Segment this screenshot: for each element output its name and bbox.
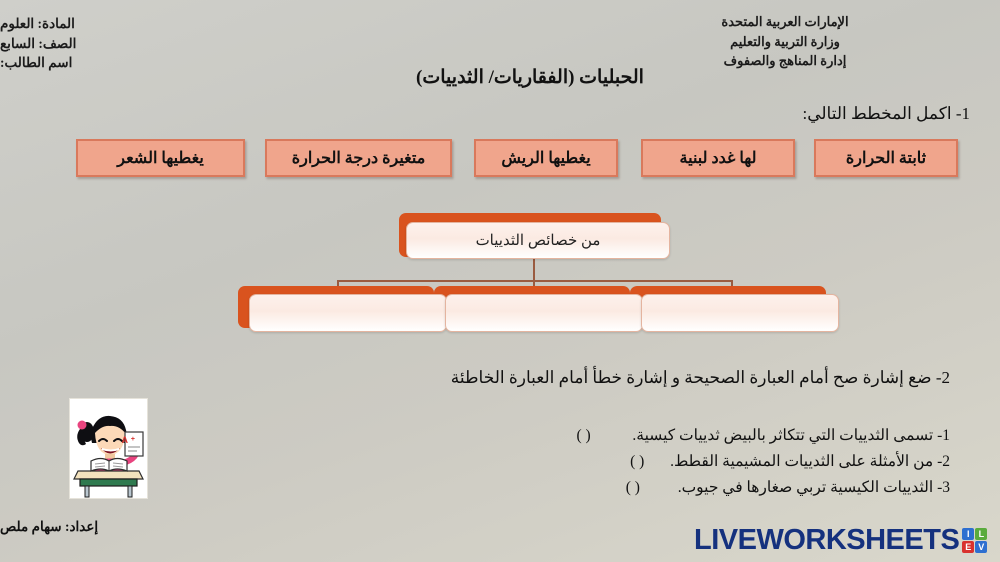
svg-text:+: + <box>131 436 135 443</box>
connector-horizontal-bus <box>337 280 733 282</box>
page-title: الحبليات (الفقاريات/ الثدييات) <box>330 66 730 89</box>
svg-text:A: A <box>122 435 129 445</box>
statement-text-2: 2- من الأمثلة على الثدييات المشيمية القط… <box>670 453 950 470</box>
header-country: الإمارات العربية المتحدة <box>620 12 950 32</box>
statement-text-1: 1- تسمى الثدييات التي تتكاثر بالبيض ثديي… <box>632 427 950 444</box>
logo-tiles: L I V E <box>962 528 987 553</box>
worksheet-page: المادة: العلوم الصف: السابع اسم الطالب: … <box>0 0 1000 562</box>
diagram-child-node-1[interactable] <box>641 294 839 332</box>
header-subject-block: المادة: العلوم الصف: السابع اسم الطالب: <box>0 14 252 73</box>
author-credit: إعداد: سهام ملص <box>0 519 240 535</box>
word-bank-item-4[interactable]: متغيرة درجة الحرارة <box>265 139 452 177</box>
word-bank-item-3[interactable]: يغطيها الريش <box>474 139 618 177</box>
liveworksheets-logo[interactable]: L I V E LIVEWORKSHEETS <box>694 524 987 557</box>
header-student-name: اسم الطالب: <box>0 53 252 73</box>
logo-tile-v: V <box>975 541 987 553</box>
diagram-child-node-3[interactable] <box>249 294 447 332</box>
statement-blank-2[interactable]: ( ) <box>630 453 644 470</box>
girl-at-desk-illustration: A + <box>69 398 148 499</box>
word-bank-item-2[interactable]: لها غدد لبنية <box>641 139 795 177</box>
diagram-root-node: من خصائص الثدييات <box>406 222 670 259</box>
word-bank-item-1[interactable]: ثابتة الحرارة <box>814 139 958 177</box>
logo-tile-e: E <box>962 541 974 553</box>
statement-row-3: 3- الثدييات الكيسية تربي صغارها في جيوب.… <box>626 478 950 497</box>
statement-row-2: 2- من الأمثلة على الثدييات المشيمية القط… <box>630 452 950 471</box>
header-grade: الصف: السابع <box>0 34 252 54</box>
header-ministry: وزارة التربية والتعليم <box>620 32 950 52</box>
word-bank-item-5[interactable]: يغطيها الشعر <box>76 139 245 177</box>
statement-blank-1[interactable]: ( ) <box>576 427 590 444</box>
statement-text-3: 3- الثدييات الكيسية تربي صغارها في جيوب. <box>678 479 950 496</box>
logo-tile-l: L <box>975 528 987 540</box>
statement-row-1: 1- تسمى الثدييات التي تتكاثر بالبيض ثديي… <box>576 426 950 445</box>
logo-tile-i: I <box>962 528 974 540</box>
connector-root-stem <box>533 257 535 281</box>
statement-blank-3[interactable]: ( ) <box>626 479 640 496</box>
question-1-prompt: 1- اكمل المخطط التالي: <box>640 104 970 124</box>
logo-wordmark: LIVEWORKSHEETS <box>694 524 959 557</box>
header-subject: المادة: العلوم <box>0 14 252 34</box>
diagram-child-node-2[interactable] <box>445 294 643 332</box>
question-2-prompt: 2- ضع إشارة صح أمام العبارة الصحيحة و إش… <box>250 368 950 388</box>
header-ministry-block: الإمارات العربية المتحدة وزارة التربية و… <box>620 12 950 71</box>
